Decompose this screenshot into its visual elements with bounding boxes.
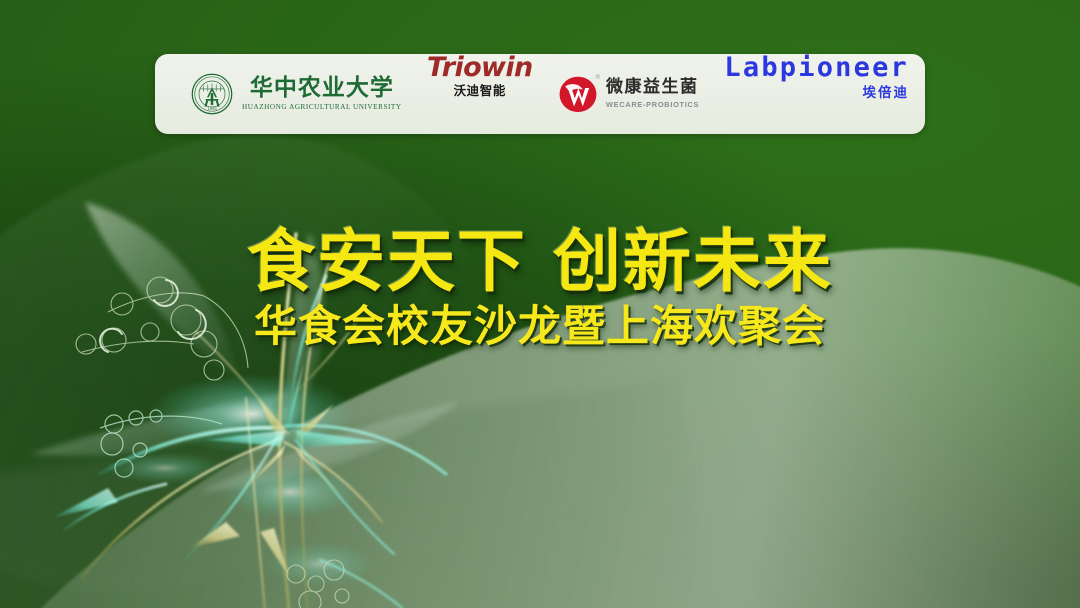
- wecare-w-mark-icon: ®: [558, 76, 598, 112]
- wecare-name-en: WECARE-PROBIOTICS: [606, 101, 699, 108]
- poster-canvas: 1898 华中农业大学 HUAZHONG AGRICULTURAL UNIVER…: [0, 0, 1080, 608]
- triowin-name-cn: 沃迪智能: [454, 85, 506, 98]
- hzau-seal-icon: 1898: [191, 73, 233, 115]
- labpioneer-name-cn: 埃倍迪: [862, 87, 909, 101]
- registered-trademark-symbol: ®: [596, 75, 600, 81]
- hzau-name-cn: 华中农业大学: [250, 76, 394, 99]
- svg-text:1898: 1898: [207, 106, 217, 111]
- logo-wecare-probiotics[interactable]: ® 微康益生菌 WECARE-PROBIOTICS: [558, 54, 699, 134]
- triowin-name-en: Triowin: [427, 54, 533, 81]
- hzau-wordmark: 华中农业大学 HUAZHONG AGRICULTURAL UNIVERSITY: [242, 76, 402, 111]
- wecare-wordmark: 微康益生菌 WECARE-PROBIOTICS: [606, 79, 699, 108]
- logo-triowin[interactable]: Triowin 沃迪智能: [427, 54, 533, 134]
- sponsor-logo-bar: 1898 华中农业大学 HUAZHONG AGRICULTURAL UNIVER…: [155, 54, 925, 134]
- wecare-name-cn: 微康益生菌: [606, 79, 699, 96]
- labpioneer-name-en: Labpioneer: [724, 54, 909, 81]
- hzau-name-en: HUAZHONG AGRICULTURAL UNIVERSITY: [242, 104, 402, 111]
- logo-huazhong-agricultural-university[interactable]: 1898 华中农业大学 HUAZHONG AGRICULTURAL UNIVER…: [191, 54, 402, 134]
- logo-labpioneer[interactable]: Labpioneer 埃倍迪: [724, 54, 909, 134]
